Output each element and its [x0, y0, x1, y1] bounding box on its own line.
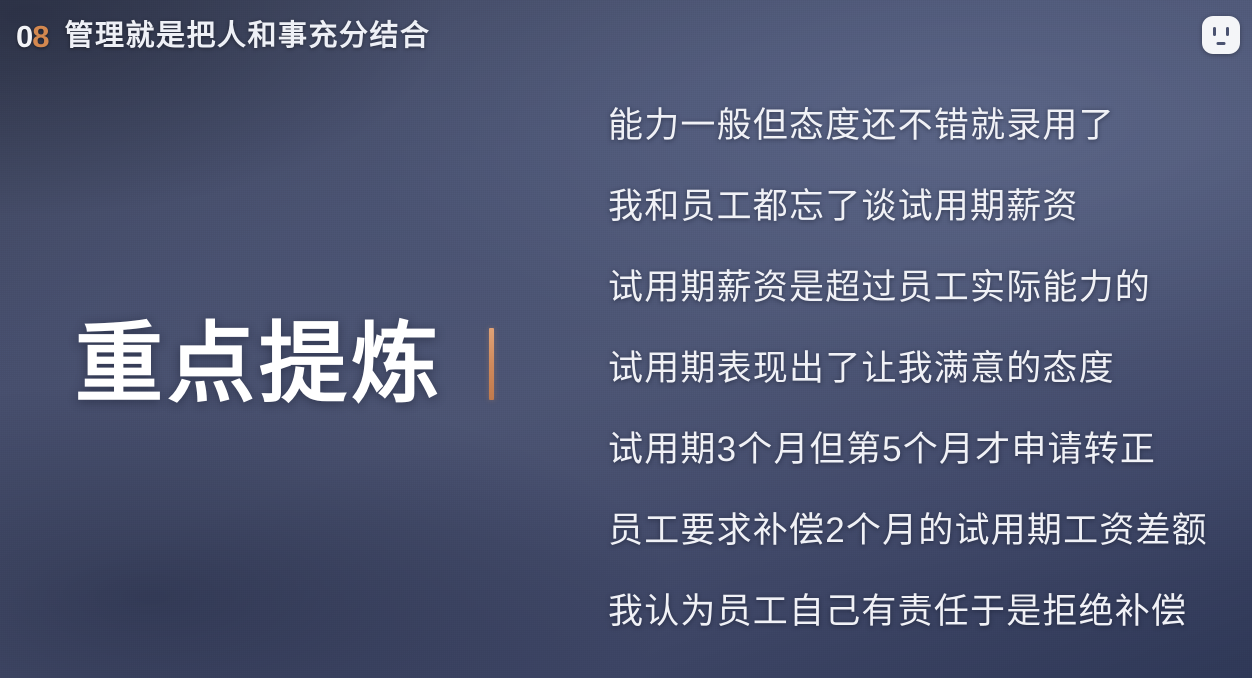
list-item: 我认为员工自己有责任于是拒绝补偿	[608, 594, 1208, 629]
chapter-number-first-digit: 0	[16, 19, 32, 54]
neutral-face-icon	[1202, 16, 1240, 54]
face-mouth-icon	[1217, 42, 1226, 45]
list-item: 试用期薪资是超过员工实际能力的	[608, 270, 1208, 305]
list-item: 能力一般但态度还不错就录用了	[608, 108, 1208, 143]
list-item: 试用期表现出了让我满意的态度	[608, 351, 1208, 386]
face-eye-left-icon	[1213, 27, 1216, 36]
chapter-number: 08	[16, 21, 49, 52]
accent-divider	[489, 328, 494, 400]
slide-canvas: 08 管理就是把人和事充分结合 重点提炼 能力一般但态度还不错就录用了 我和员工…	[0, 0, 1252, 678]
headline-block: 重点提炼	[75, 318, 494, 410]
list-item: 试用期3个月但第5个月才申请转正	[608, 432, 1208, 467]
list-item: 员工要求补偿2个月的试用期工资差额	[608, 513, 1208, 548]
list-item: 我和员工都忘了谈试用期薪资	[608, 189, 1208, 224]
chapter-number-second-digit: 8	[32, 19, 48, 54]
page-title: 重点提炼	[75, 318, 443, 410]
summary-point-list: 能力一般但态度还不错就录用了 我和员工都忘了谈试用期薪资 试用期薪资是超过员工实…	[608, 108, 1208, 629]
slide-header: 08 管理就是把人和事充分结合	[0, 0, 1252, 72]
face-eye-right-icon	[1226, 27, 1229, 36]
header-title: 管理就是把人和事充分结合	[65, 22, 431, 51]
